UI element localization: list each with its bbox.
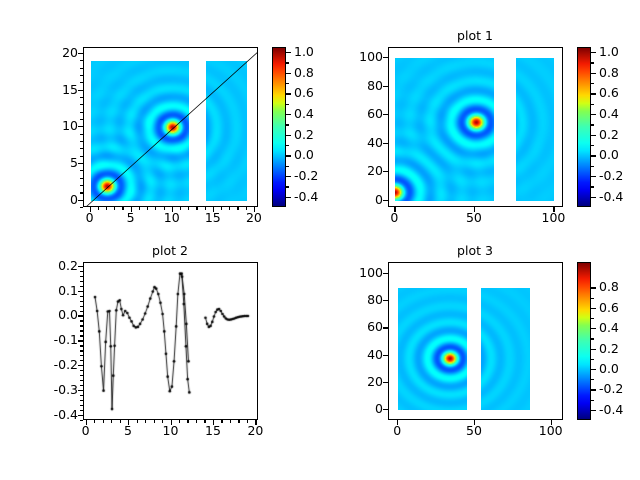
colorbar-tick [591, 328, 596, 329]
y-tick-label: 0 [323, 401, 383, 416]
x-minor-tick [147, 207, 148, 210]
y-minor-tick [80, 104, 83, 105]
x-minor-tick [94, 420, 95, 423]
y-tick [383, 114, 388, 115]
heatmap-canvas [516, 58, 554, 201]
x-minor-tick [187, 420, 188, 423]
y-minor-tick [80, 355, 83, 356]
y-tick [78, 340, 83, 341]
x-minor-tick [114, 207, 115, 210]
heatmap-canvas [395, 58, 494, 201]
y-minor-tick [80, 207, 83, 208]
y-tick [78, 200, 83, 201]
colorbar-tick [591, 389, 596, 390]
colorbar-minor-tick [591, 400, 594, 401]
y-minor-tick [80, 271, 83, 272]
heatmap-canvas [481, 288, 530, 411]
y-minor-tick [80, 170, 83, 171]
colorbar-tick [591, 114, 596, 115]
colorbar-minor-tick [286, 104, 289, 105]
colorbar-tick [286, 52, 291, 53]
colorbar-minor-tick [286, 83, 289, 84]
y-tick [78, 365, 83, 366]
colorbar-tick [591, 52, 596, 53]
y-tick-label: 60 [323, 319, 383, 334]
x-minor-tick [103, 420, 104, 423]
x-minor-tick [162, 420, 163, 423]
y-tick [383, 143, 388, 144]
y-tick-label: -0.4 [18, 407, 78, 422]
colorbar-minor-tick [591, 359, 594, 360]
y-minor-tick [80, 330, 83, 331]
heatmap-canvas [91, 61, 190, 200]
y-tick-label: 20 [323, 374, 383, 389]
colorbar-tick [286, 135, 291, 136]
x-minor-tick [196, 420, 197, 423]
figure-canvas: 05101520051015201.00.80.60.40.20.0-0.2-0… [0, 0, 640, 480]
colorbar-tick [591, 308, 596, 309]
x-minor-tick [154, 420, 155, 423]
y-tick-label: -0.3 [18, 382, 78, 397]
x-minor-tick [247, 420, 248, 423]
y-tick-label: 20 [18, 45, 78, 60]
axes-frame-plot3 [388, 262, 563, 420]
x-minor-tick [221, 420, 222, 423]
y-minor-tick [80, 276, 83, 277]
y-minor-tick [80, 68, 83, 69]
y-minor-tick [80, 185, 83, 186]
x-tick-label: 0 [369, 210, 419, 225]
x-minor-tick [221, 207, 222, 210]
axes-frame-plot2 [83, 262, 258, 420]
x-tick-label: 50 [449, 210, 499, 225]
y-minor-tick [80, 156, 83, 157]
y-tick [78, 126, 83, 127]
y-minor-tick [80, 380, 83, 381]
y-tick [383, 355, 388, 356]
y-minor-tick [80, 405, 83, 406]
y-tick [383, 86, 388, 87]
colorbar-tick [591, 349, 596, 350]
colorbar-tick [286, 114, 291, 115]
colorbar-tick [286, 176, 291, 177]
colorbar-tick [286, 93, 291, 94]
colorbar-tick [286, 155, 291, 156]
heatmap-canvas [206, 61, 247, 200]
heatmap-patch [481, 288, 530, 411]
axes-frame-plot0 [83, 47, 258, 207]
y-tick [78, 266, 83, 267]
y-tick [78, 163, 83, 164]
y-tick [383, 327, 388, 328]
y-minor-tick [80, 360, 83, 361]
x-minor-tick [122, 207, 123, 210]
y-tick [78, 315, 83, 316]
y-minor-tick [80, 345, 83, 346]
x-minor-tick [137, 420, 138, 423]
x-tick-label: 100 [526, 423, 576, 438]
x-minor-tick [188, 207, 189, 210]
colorbar-tick [286, 73, 291, 74]
x-minor-tick [111, 420, 112, 423]
x-minor-tick [179, 420, 180, 423]
colorbar-plot0 [272, 47, 286, 207]
plot-title-plot3: plot 3 [415, 243, 535, 258]
heatmap-canvas [398, 288, 467, 411]
y-tick-label: 100 [323, 49, 383, 64]
y-minor-tick [80, 385, 83, 386]
y-tick-label: 0.1 [18, 283, 78, 298]
colorbar-minor-tick [591, 318, 594, 319]
y-tick [383, 382, 388, 383]
y-tick-label: 0.2 [18, 258, 78, 273]
y-tick-label: 80 [323, 292, 383, 307]
colorbar-minor-tick [286, 62, 289, 63]
y-minor-tick [80, 296, 83, 297]
y-minor-tick [80, 350, 83, 351]
y-tick [383, 409, 388, 410]
colorbar-tick [286, 197, 291, 198]
colorbar-tick [591, 410, 596, 411]
x-minor-tick [164, 207, 165, 210]
y-minor-tick [80, 119, 83, 120]
colorbar-tick-label: -0.2 [599, 381, 640, 396]
x-tick-label: 20 [230, 423, 280, 438]
colorbar-tick-label: 0.8 [599, 65, 640, 80]
colorbar-minor-tick [286, 145, 289, 146]
colorbar-tick-label: -0.4 [599, 402, 640, 417]
colorbar-tick [591, 176, 596, 177]
plot-title-plot1: plot 1 [415, 28, 535, 43]
colorbar-minor-tick [591, 62, 594, 63]
colorbar-tick-label: 0.4 [599, 320, 640, 335]
colorbar-tick [591, 155, 596, 156]
heatmap-patch [395, 58, 494, 201]
y-minor-tick [80, 375, 83, 376]
y-tick [383, 57, 388, 58]
y-tick [383, 200, 388, 201]
x-minor-tick [246, 207, 247, 210]
heatmap-patch [516, 58, 554, 201]
y-minor-tick [80, 395, 83, 396]
y-minor-tick [80, 325, 83, 326]
colorbar-minor-tick [591, 338, 594, 339]
x-tick-label: 20 [229, 210, 279, 225]
heatmap-patch [398, 288, 467, 411]
y-tick [78, 390, 83, 391]
x-minor-tick [155, 207, 156, 210]
x-tick-label: 100 [528, 210, 578, 225]
y-tick [383, 300, 388, 301]
colorbar-minor-tick [591, 186, 594, 187]
x-minor-tick [145, 420, 146, 423]
y-minor-tick [80, 148, 83, 149]
y-tick-label: 0.0 [18, 307, 78, 322]
y-tick-label: 0 [323, 192, 383, 207]
colorbar-minor-tick [591, 104, 594, 105]
y-tick [78, 291, 83, 292]
y-minor-tick [80, 400, 83, 401]
heatmap-patch [91, 61, 190, 200]
y-minor-tick [80, 112, 83, 113]
colorbar-tick-label: 0.2 [599, 127, 640, 142]
x-minor-tick [180, 207, 181, 210]
y-minor-tick [80, 286, 83, 287]
y-minor-tick [80, 311, 83, 312]
x-tick-label: 50 [449, 423, 499, 438]
colorbar-minor-tick [286, 186, 289, 187]
y-tick-label: -0.1 [18, 332, 78, 347]
y-tick-label: 40 [323, 347, 383, 362]
y-tick [383, 171, 388, 172]
y-minor-tick [80, 60, 83, 61]
y-tick [78, 415, 83, 416]
colorbar-tick-label: 0.4 [599, 106, 640, 121]
x-minor-tick [230, 420, 231, 423]
y-tick-label: 20 [323, 163, 383, 178]
colorbar-minor-tick [591, 83, 594, 84]
y-minor-tick [80, 281, 83, 282]
colorbar-tick [591, 73, 596, 74]
colorbar-tick-label: -0.4 [599, 189, 640, 204]
y-tick [78, 53, 83, 54]
y-tick-label: 10 [18, 118, 78, 133]
y-tick-label: 5 [18, 155, 78, 170]
colorbar-tick-label: 1.0 [599, 44, 640, 59]
colorbar-minor-tick [591, 298, 594, 299]
colorbar-minor-tick [286, 166, 289, 167]
colorbar-tick-label: 0.0 [599, 147, 640, 162]
colorbar-tick-label: 0.8 [599, 279, 640, 294]
colorbar-tick [591, 197, 596, 198]
y-minor-tick [80, 335, 83, 336]
colorbar-minor-tick [591, 166, 594, 167]
colorbar-tick-label: 0.0 [599, 361, 640, 376]
y-tick-label: 60 [323, 106, 383, 121]
y-minor-tick [80, 410, 83, 411]
x-minor-tick [204, 420, 205, 423]
y-tick-label: 15 [18, 82, 78, 97]
y-minor-tick [80, 134, 83, 135]
y-minor-tick [80, 178, 83, 179]
y-minor-tick [80, 301, 83, 302]
colorbar-minor-tick [591, 379, 594, 380]
colorbar-tick [591, 93, 596, 94]
y-minor-tick [80, 75, 83, 76]
y-minor-tick [80, 370, 83, 371]
colorbar-tick-label: -0.2 [599, 168, 640, 183]
y-tick [78, 90, 83, 91]
colorbar-tick-label: 0.6 [599, 300, 640, 315]
y-minor-tick [80, 141, 83, 142]
y-tick-label: 0 [18, 192, 78, 207]
colorbar-plot3 [577, 262, 591, 420]
y-tick-label: 80 [323, 78, 383, 93]
y-minor-tick [80, 320, 83, 321]
x-minor-tick [237, 207, 238, 210]
heatmap-patch [206, 61, 247, 200]
y-tick-label: 100 [323, 265, 383, 280]
x-minor-tick [196, 207, 197, 210]
colorbar-minor-tick [591, 124, 594, 125]
y-tick-label: 40 [323, 135, 383, 150]
lineplot-canvas [84, 263, 258, 420]
x-minor-tick [238, 420, 239, 423]
x-minor-tick [229, 207, 230, 210]
y-tick [383, 273, 388, 274]
colorbar-tick-label: 0.2 [599, 341, 640, 356]
colorbar-plot1 [577, 47, 591, 207]
y-minor-tick [80, 97, 83, 98]
colorbar-tick [591, 369, 596, 370]
x-minor-tick [106, 207, 107, 210]
y-minor-tick [80, 420, 83, 421]
plot-title-plot2: plot 2 [110, 243, 230, 258]
y-tick-label: -0.2 [18, 357, 78, 372]
x-minor-tick [120, 420, 121, 423]
colorbar-tick [591, 287, 596, 288]
y-minor-tick [80, 192, 83, 193]
x-minor-tick [98, 207, 99, 210]
x-minor-tick [139, 207, 140, 210]
x-minor-tick [205, 207, 206, 210]
colorbar-minor-tick [591, 145, 594, 146]
axes-frame-plot1 [388, 47, 563, 207]
colorbar-minor-tick [286, 124, 289, 125]
x-tick-label: 0 [372, 423, 422, 438]
y-minor-tick [80, 306, 83, 307]
colorbar-tick-label: 0.6 [599, 85, 640, 100]
y-minor-tick [80, 82, 83, 83]
colorbar-tick [591, 135, 596, 136]
